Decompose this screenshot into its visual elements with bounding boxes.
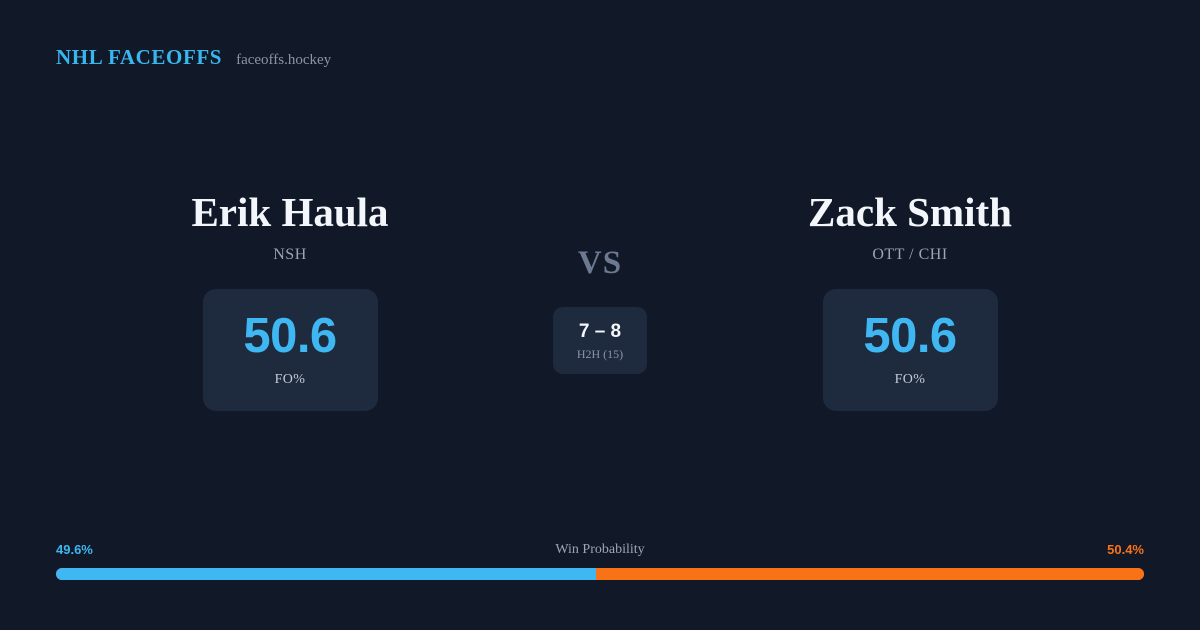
head-to-head-label: H2H (15) [577,348,623,360]
versus-column: VS 7 – 8 H2H (15) [510,190,690,374]
stat-value-left: 50.6 [243,312,336,361]
stat-card-left: 50.6 FO% [203,289,378,411]
win-probability-section: 49.6% Win Probability 50.4% [56,541,1144,580]
win-probability-right-percent: 50.4% [1107,541,1144,559]
brand-domain: faceoffs.hockey [236,53,331,68]
stat-label-right: FO% [895,373,926,387]
versus-label: VS [578,247,622,280]
matchup-container: Erik Haula NSH 50.6 FO% VS 7 – 8 H2H (15… [0,190,1200,411]
win-probability-title: Win Probability [56,541,1144,559]
win-probability-bar-left-segment [56,568,596,580]
player-card-left: Erik Haula NSH 50.6 FO% [70,190,510,411]
stat-value-right: 50.6 [863,312,956,361]
win-probability-labels: 49.6% Win Probability 50.4% [56,541,1144,559]
player-name-right: Zack Smith [808,190,1012,236]
player-name-left: Erik Haula [191,190,388,236]
stat-label-left: FO% [275,373,306,387]
player-card-right: Zack Smith OTT / CHI 50.6 FO% [690,190,1130,411]
brand-title: NHL FACEOFFS [56,47,222,68]
player-team-left: NSH [273,247,307,263]
win-probability-bar-right-segment [596,568,1144,580]
site-header: NHL FACEOFFS faceoffs.hockey [56,47,331,68]
head-to-head-score: 7 – 8 [579,322,621,341]
player-team-right: OTT / CHI [872,247,947,263]
stat-card-right: 50.6 FO% [823,289,998,411]
head-to-head-box: 7 – 8 H2H (15) [553,307,647,374]
win-probability-bar [56,568,1144,580]
